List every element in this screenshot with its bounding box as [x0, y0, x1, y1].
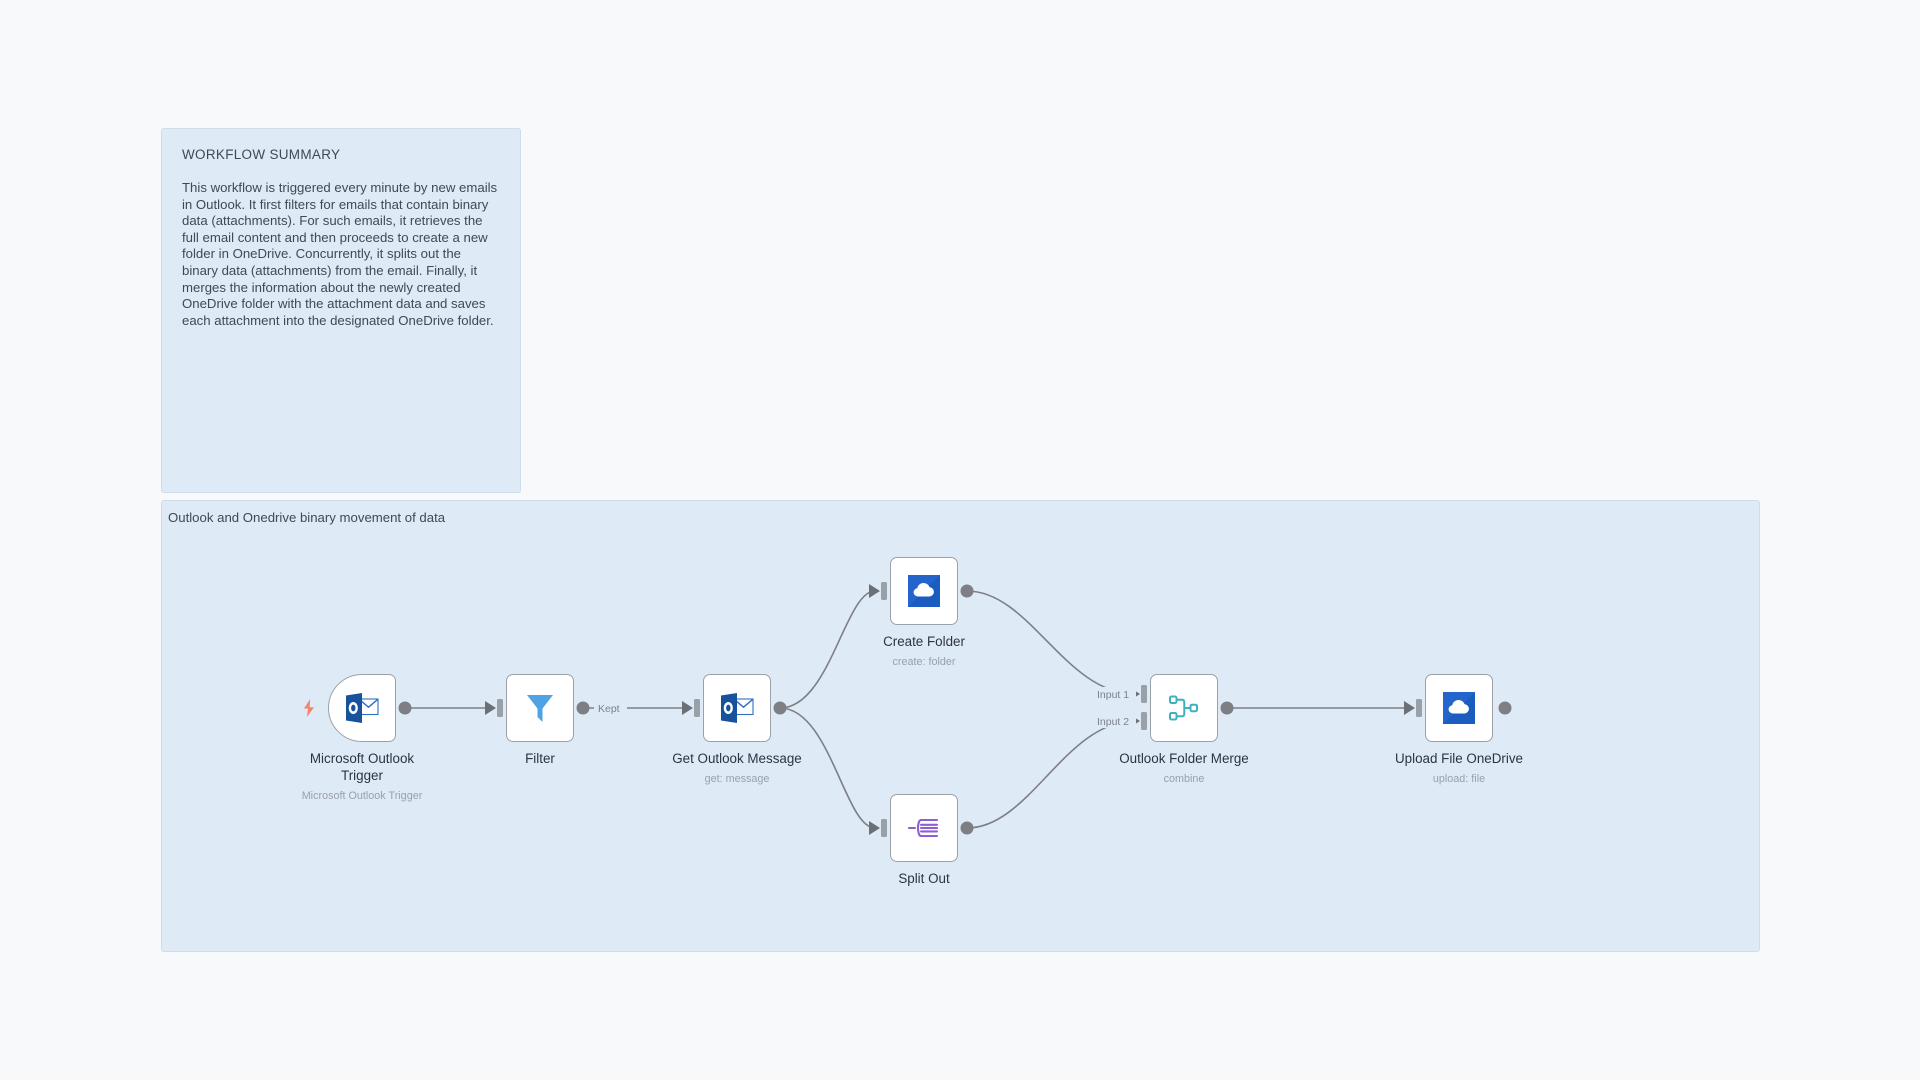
- workflow-summary-body: This workflow is triggered every minute …: [182, 180, 500, 329]
- node-subtitle-get-outlook-message: get: message: [647, 772, 827, 786]
- node-label-outlook-trigger: Microsoft Outlook Trigger: [268, 750, 456, 784]
- node-filter[interactable]: [506, 674, 574, 742]
- node-label-split-out: Split Out: [836, 870, 1012, 887]
- node-label-create-folder: Create Folder: [836, 633, 1012, 650]
- workflow-page: WORKFLOW SUMMARY This workflow is trigge…: [0, 0, 1920, 1080]
- node-label-filter: Filter: [450, 750, 630, 767]
- node-label-upload-file-onedrive: Upload File OneDrive: [1365, 750, 1553, 767]
- split-out-icon: [905, 809, 943, 847]
- node-label-outlook-folder-merge: Outlook Folder Merge: [1090, 750, 1278, 767]
- workflow-canvas-title: Outlook and Onedrive binary movement of …: [168, 510, 445, 525]
- filter-funnel-icon: [521, 689, 559, 727]
- workflow-summary-sticky-note[interactable]: WORKFLOW SUMMARY This workflow is trigge…: [161, 128, 521, 493]
- microsoft-outlook-icon: [718, 689, 756, 727]
- merge-combine-icon: [1165, 689, 1203, 727]
- node-create-folder[interactable]: [890, 557, 958, 625]
- node-subtitle-outlook-trigger: Microsoft Outlook Trigger: [268, 789, 456, 803]
- node-subtitle-upload-file-onedrive: upload: file: [1365, 772, 1553, 786]
- node-outlook-folder-merge[interactable]: [1150, 674, 1218, 742]
- node-split-out[interactable]: [890, 794, 958, 862]
- node-get-outlook-message[interactable]: [703, 674, 771, 742]
- node-subtitle-outlook-folder-merge: combine: [1090, 772, 1278, 786]
- onedrive-cloud-icon: [1440, 689, 1478, 727]
- trigger-lightning-bolt-icon: [301, 699, 317, 717]
- microsoft-outlook-icon: [343, 689, 381, 727]
- node-outlook-trigger[interactable]: [328, 674, 396, 742]
- node-subtitle-create-folder: create: folder: [836, 655, 1012, 669]
- node-label-get-outlook-message: Get Outlook Message: [647, 750, 827, 767]
- workflow-summary-title: WORKFLOW SUMMARY: [182, 147, 500, 162]
- onedrive-cloud-icon: [905, 572, 943, 610]
- node-upload-file-onedrive[interactable]: [1425, 674, 1493, 742]
